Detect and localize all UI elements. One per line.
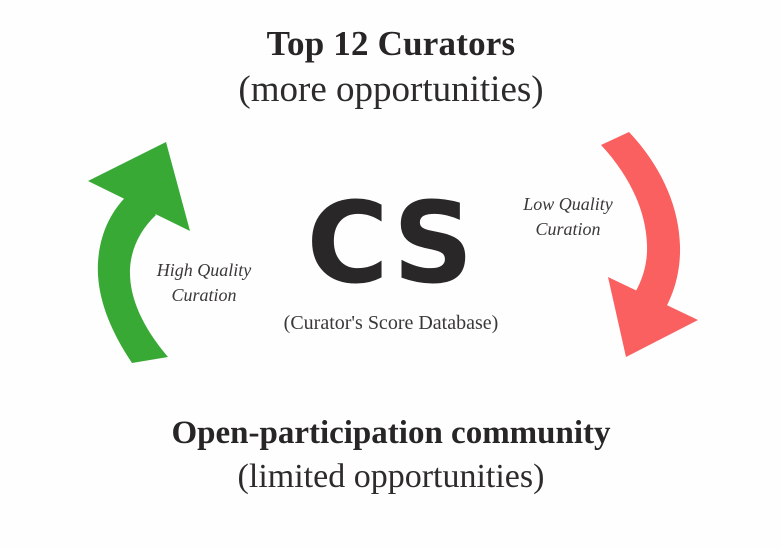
red-demotion-arrow xyxy=(601,132,698,357)
red-arrow-label: Low Quality Curation xyxy=(505,192,631,242)
cs-logo-caption: (Curator's Score Database) xyxy=(191,310,591,336)
green-arrow-label: High Quality Curation xyxy=(141,258,267,308)
green-arrow-head xyxy=(88,142,190,231)
cycle-diagram: Top 12 Curators (more opportunities) CS … xyxy=(0,0,782,550)
green-promotion-arrow xyxy=(88,142,190,363)
top-tier-title: Top 12 Curators xyxy=(0,22,782,66)
top-tier-block: Top 12 Curators (more opportunities) xyxy=(0,22,782,114)
bottom-tier-title: Open-participation community xyxy=(0,412,782,454)
red-arrow-head xyxy=(608,277,698,357)
bottom-tier-block: Open-participation community (limited op… xyxy=(0,412,782,500)
bottom-tier-subtitle: (limited opportunities) xyxy=(0,454,782,500)
top-tier-subtitle: (more opportunities) xyxy=(0,66,782,114)
